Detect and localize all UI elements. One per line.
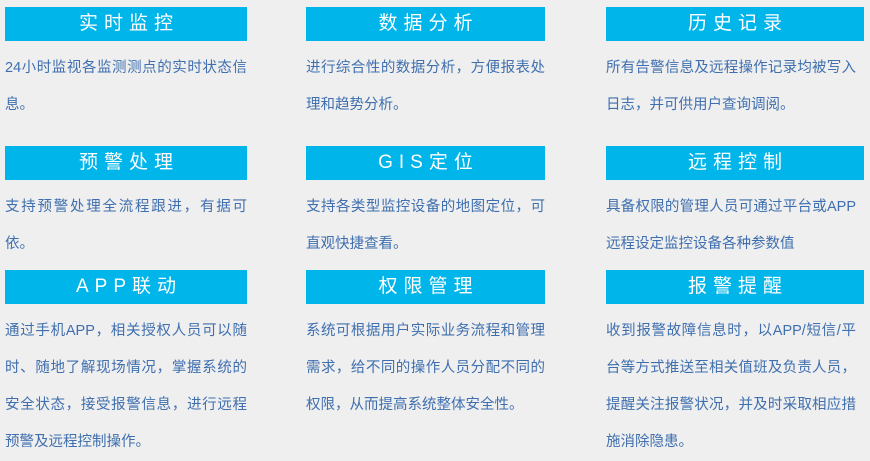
feature-description: 24小时监视各监测测点的实时状态信息。 [5,50,247,124]
feature-title: 历史记录 [682,7,788,41]
feature-description: 支持预警处理全流程跟进，有据可依。 [5,189,247,263]
feature-description: 收到报警故障信息时，以APP/短信/平台等方式推送至相关值班及负责人员，提醒关注… [606,313,856,461]
feature-card-data-analysis: 数据分析 进行综合性的数据分析，方便报表处理和趋势分析。 [290,0,580,139]
feature-title-bar: APP联动 [5,270,247,304]
feature-card-realtime-monitoring: 实时监控 24小时监视各监测测点的实时状态信息。 [0,0,290,139]
feature-title: 预警处理 [73,146,179,180]
feature-card-permission-management: 权限管理 系统可根据用户实际业务流程和管理需求，给不同的操作人员分配不同的权限，… [290,264,580,450]
feature-description: 通过手机APP，相关授权人员可以随时、随地了解现场情况，掌握系统的安全状态，接受… [5,313,247,461]
feature-description: 支持各类型监控设备的地图定位，可直观快捷查看。 [306,189,545,263]
feature-title-bar: 权限管理 [306,270,545,304]
feature-title: GIS定位 [372,146,479,180]
feature-title-bar: GIS定位 [306,146,545,180]
feature-title: 报警提醒 [682,270,788,304]
feature-card-app-linkage: APP联动 通过手机APP，相关授权人员可以随时、随地了解现场情况，掌握系统的安… [0,264,290,450]
feature-card-alarm-reminder: 报警提醒 收到报警故障信息时，以APP/短信/平台等方式推送至相关值班及负责人员… [580,264,870,450]
feature-description: 具备权限的管理人员可通过平台或APP远程设定监控设备各种参数值 [606,189,856,263]
feature-description: 所有告警信息及远程操作记录均被写入日志，并可供用户查询调阅。 [606,50,856,124]
feature-title-bar: 数据分析 [306,7,545,41]
feature-title: APP联动 [70,270,182,304]
feature-title: 权限管理 [372,270,478,304]
feature-title-bar: 实时监控 [5,7,247,41]
feature-description: 进行综合性的数据分析，方便报表处理和趋势分析。 [306,50,545,124]
feature-title: 数据分析 [372,7,478,41]
feature-card-history-records: 历史记录 所有告警信息及远程操作记录均被写入日志，并可供用户查询调阅。 [580,0,870,139]
feature-title: 远程控制 [682,146,788,180]
feature-card-gis-location: GIS定位 支持各类型监控设备的地图定位，可直观快捷查看。 [290,139,580,264]
feature-description: 系统可根据用户实际业务流程和管理需求，给不同的操作人员分配不同的权限，从而提高系… [306,313,545,424]
feature-card-remote-control: 远程控制 具备权限的管理人员可通过平台或APP远程设定监控设备各种参数值 [580,139,870,264]
feature-title-bar: 报警提醒 [606,270,864,304]
feature-title-bar: 历史记录 [606,7,864,41]
feature-grid: 实时监控 24小时监视各监测测点的实时状态信息。 数据分析 进行综合性的数据分析… [0,0,870,450]
feature-title: 实时监控 [73,7,179,41]
feature-card-early-warning: 预警处理 支持预警处理全流程跟进，有据可依。 [0,139,290,264]
feature-title-bar: 预警处理 [5,146,247,180]
feature-title-bar: 远程控制 [606,146,864,180]
